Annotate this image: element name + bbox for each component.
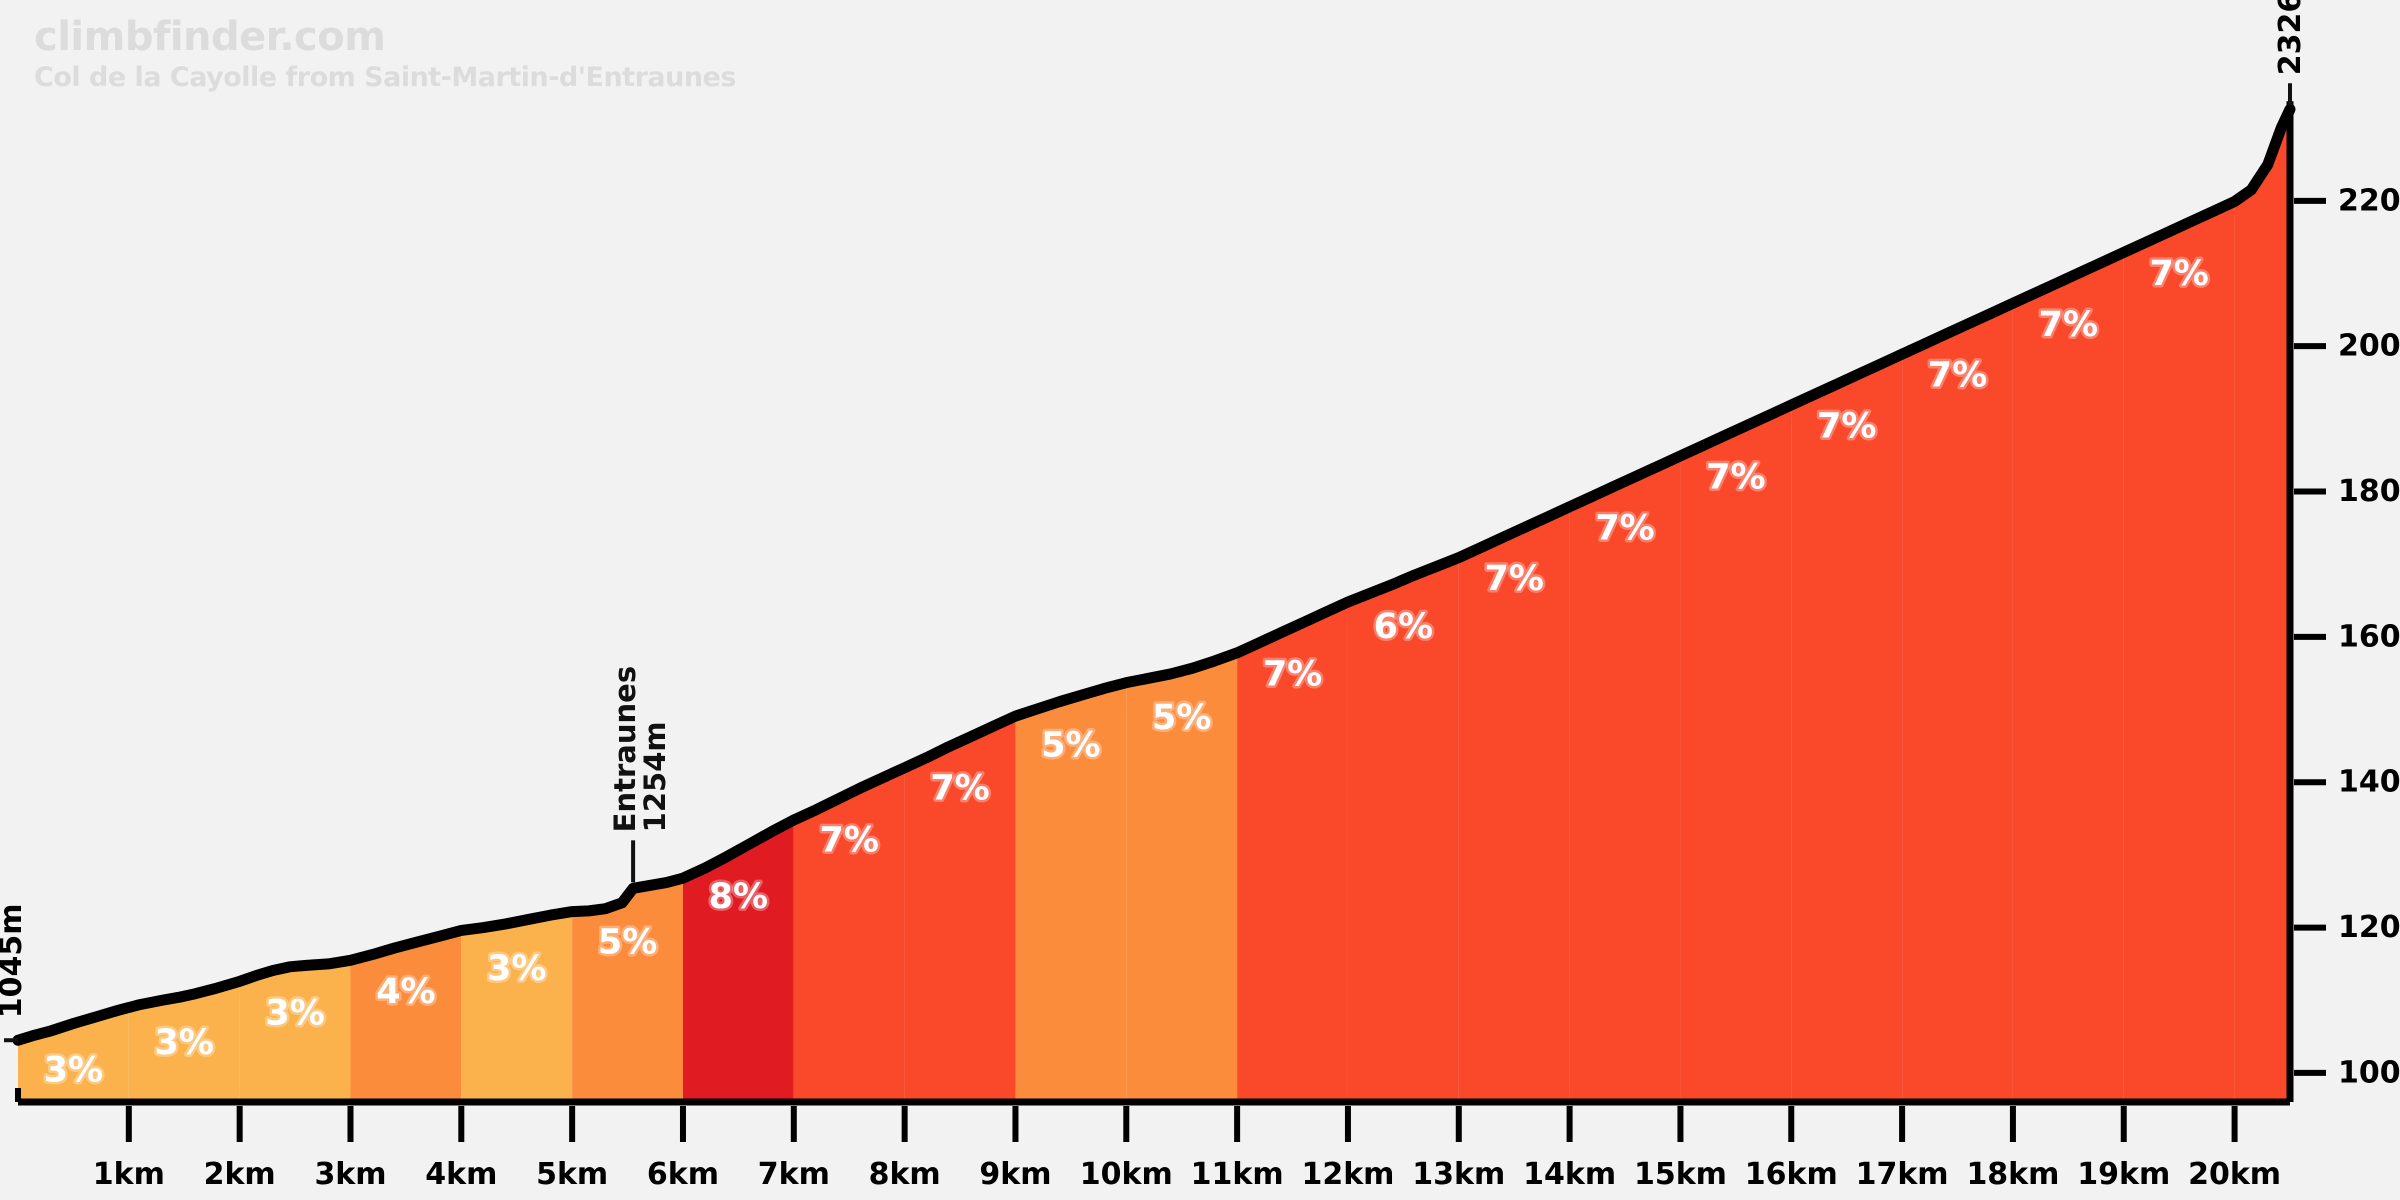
y-axis-tick-label: 1200m [2338,910,2400,945]
segment-gradient-label: 3% [155,1023,214,1063]
x-axis-tick-label: 16km [1745,1157,1838,1192]
gradient-segment [1570,456,1681,1102]
segment-gradient-label: 7% [2149,254,2208,294]
y-axis-ticks-group: 1000m1200m1400m1600m1800m2000m2200m [2294,183,2400,1090]
poi-name-label: Entraunes [608,666,642,832]
y-axis-tick-label: 1600m [2338,619,2400,654]
x-axis-tick-label: 6km [647,1157,719,1192]
segment-gradient-label: 7% [2039,305,2098,345]
segment-gradient-label: 3% [44,1051,103,1091]
x-axis-tick-label: 13km [1412,1157,1505,1192]
x-axis-tick-label: 7km [758,1157,830,1192]
segment-gradient-label: 7% [1484,559,1543,599]
x-axis-tick-label: 15km [1634,1157,1727,1192]
x-axis-tick-label: 8km [869,1157,941,1192]
start-elevation-label: 1045m [0,903,29,1018]
x-axis-tick-label: 10km [1080,1157,1173,1192]
x-axis-tick-label: 17km [1856,1157,1949,1192]
gradient-segment [461,912,572,1102]
climb-profile-page: climbfinder.com Col de la Cayolle from S… [0,0,2400,1200]
poi-elevation-label: 1254m [638,721,672,832]
x-axis-tick-label: 9km [979,1157,1051,1192]
y-axis-tick-label: 1800m [2338,474,2400,509]
climb-elevation-chart: 1km2km3km4km5km6km7km8km9km10km11km12km1… [0,0,2400,1200]
segment-gradient-label: 7% [930,769,989,809]
segment-gradient-label: 7% [1928,356,1987,396]
x-axis-tick-label: 14km [1523,1157,1616,1192]
segment-gradient-label: 8% [709,877,768,917]
segment-gradient-label: 7% [820,820,879,860]
segment-gradient-label: 7% [1706,457,1765,497]
gradient-segment [683,820,794,1102]
segment-gradient-label: 7% [1263,654,1322,694]
gradient-segment [1902,303,2013,1102]
summit-elevation-label: 2326m [2273,0,2308,75]
gradient-segment [2124,202,2235,1102]
y-axis-tick-label: 1400m [2338,765,2400,800]
x-axis-tick-label: 12km [1301,1157,1394,1192]
x-axis-tick-label: 1km [93,1157,165,1192]
annotations-group: Entraunes1254m [608,666,672,882]
segment-gradient-label: 5% [598,923,657,963]
segment-gradient-label: 7% [1595,508,1654,548]
x-axis-tick-label: 5km [536,1157,608,1192]
segment-gradient-label: 4% [376,972,435,1012]
segment-gradient-label: 3% [487,949,546,989]
segment-gradient-label: 3% [265,993,324,1033]
x-axis-tick-label: 2km [204,1157,276,1192]
y-axis-tick-label: 2000m [2338,329,2400,364]
segment-gradient-label: 5% [1152,698,1211,738]
gradient-segment [2013,252,2124,1102]
y-axis-tick-label: 2200m [2338,183,2400,218]
segment-gradient-label: 5% [1041,725,1100,765]
x-axis-tick-label: 4km [425,1157,497,1192]
x-axis-tick-label: 20km [2188,1157,2281,1192]
gradient-segment [2235,109,2290,1102]
x-axis-tick-label: 18km [1966,1157,2059,1192]
segment-gradient-label: 7% [1817,407,1876,447]
x-axis-tick-label: 19km [2077,1157,2170,1192]
x-axis-tick-label: 3km [314,1157,386,1192]
y-axis-tick-label: 1000m [2338,1055,2400,1090]
x-axis-tick-label: 11km [1191,1157,1284,1192]
gradient-segment [1791,354,1902,1102]
x-axis-ticks-group: 1km2km3km4km5km6km7km8km9km10km11km12km1… [93,1106,2281,1192]
gradient-segment [1680,405,1791,1102]
segment-gradient-label: 6% [1374,607,1433,647]
